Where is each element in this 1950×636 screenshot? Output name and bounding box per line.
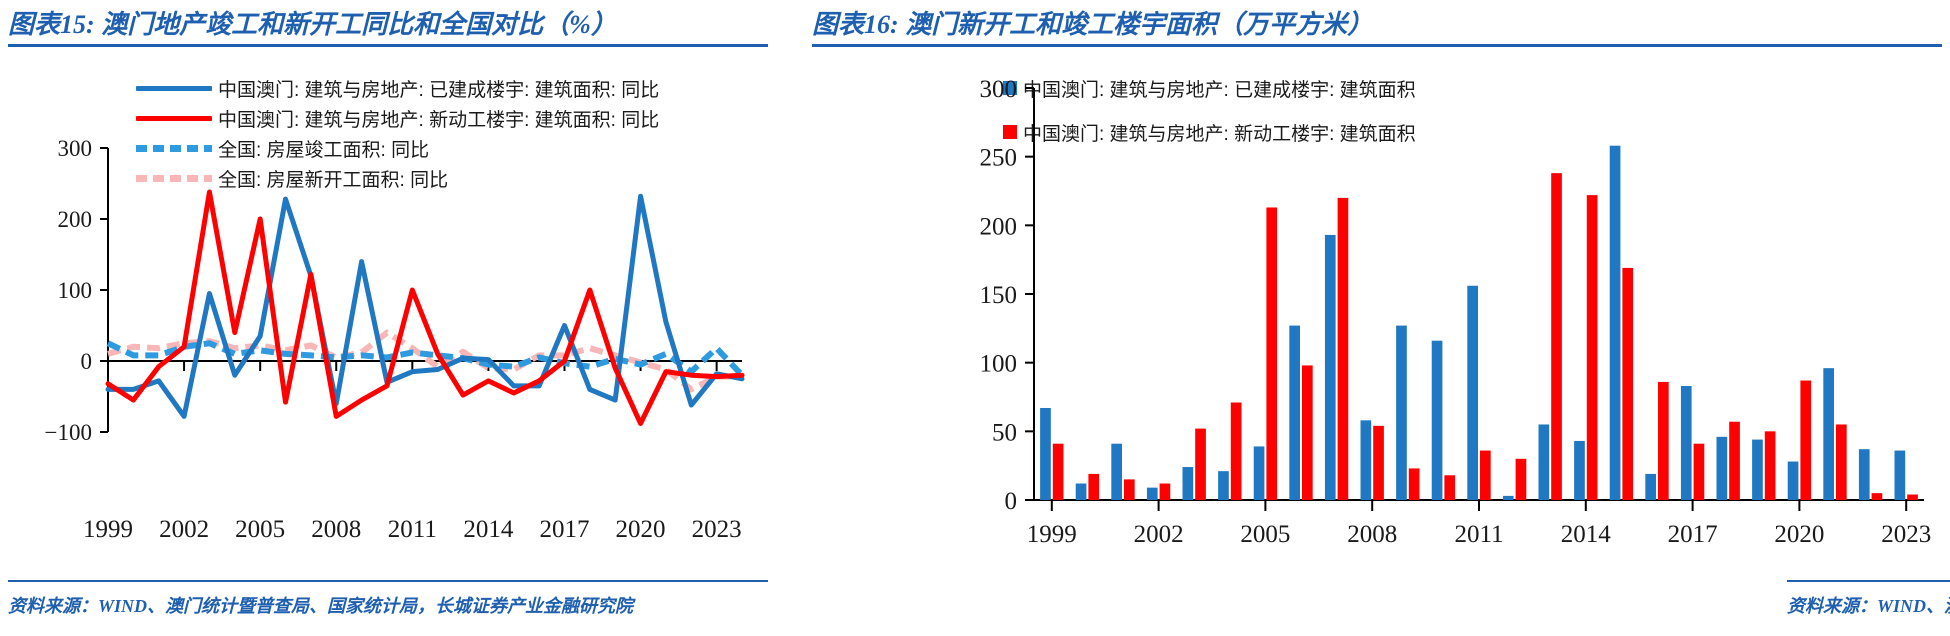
svg-text:200: 200 [980, 213, 1018, 240]
svg-text:2011: 2011 [388, 516, 437, 543]
svg-text:2020: 2020 [1774, 521, 1824, 548]
svg-text:250: 250 [980, 145, 1018, 172]
svg-text:300: 300 [980, 76, 1018, 103]
svg-text:2020: 2020 [616, 516, 666, 543]
figure-16-plot: 0501001502002503001999200220052008201120… [812, 0, 1942, 560]
figure-16-panel: 图表16: 澳门新开工和竣工楼宇面积（万平方米） 中国澳门: 建筑与房地产: 已… [975, 0, 1950, 636]
figure-16-svg: 0501001502002503001999200220052008201120… [812, 0, 1942, 560]
svg-text:2017: 2017 [539, 516, 589, 543]
svg-text:50: 50 [992, 419, 1017, 446]
figure-pair-page: 图表15: 澳门地产竣工和新开工同比和全国对比（%） 中国澳门: 建筑与房地产:… [0, 0, 1950, 636]
svg-text:150: 150 [980, 282, 1018, 309]
svg-text:2017: 2017 [1668, 521, 1718, 548]
figure-16-source-rule [1787, 580, 1950, 582]
svg-text:2023: 2023 [1881, 521, 1931, 548]
figure-15-source: 资料来源：WIND、澳门统计暨普查局、国家统计局，长城证券产业金融研究院 [8, 592, 633, 618]
svg-text:2008: 2008 [311, 516, 361, 543]
svg-text:2002: 2002 [1134, 521, 1184, 548]
svg-text:2002: 2002 [159, 516, 209, 543]
svg-text:2008: 2008 [1347, 521, 1397, 548]
svg-text:2023: 2023 [692, 516, 742, 543]
figure-16-source: 资料来源：WIND、澳门统计暨普查局、长城证券产业金融研究院 [1787, 592, 1950, 618]
svg-text:0: 0 [81, 349, 93, 374]
svg-text:−100: −100 [45, 420, 92, 445]
svg-text:100: 100 [980, 351, 1018, 378]
svg-text:2014: 2014 [463, 516, 514, 543]
svg-text:2014: 2014 [1561, 521, 1612, 548]
svg-text:1999: 1999 [83, 516, 133, 543]
svg-text:300: 300 [58, 136, 93, 161]
svg-text:1999: 1999 [1027, 521, 1077, 548]
svg-text:2005: 2005 [1240, 521, 1290, 548]
svg-text:0: 0 [1005, 488, 1018, 515]
svg-text:2011: 2011 [1454, 521, 1503, 548]
svg-text:200: 200 [58, 207, 93, 232]
svg-text:2005: 2005 [235, 516, 285, 543]
svg-text:100: 100 [58, 278, 93, 303]
figure-15-source-rule [8, 580, 768, 582]
